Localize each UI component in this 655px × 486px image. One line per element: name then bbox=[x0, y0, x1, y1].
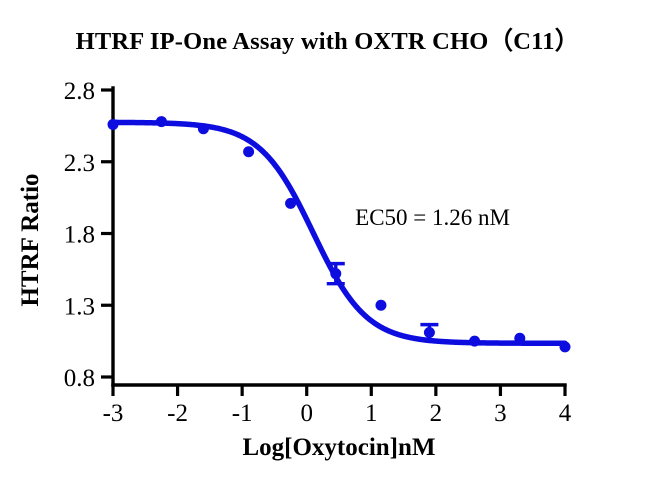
y-tick-label: 1.3 bbox=[64, 293, 95, 320]
data-points bbox=[108, 116, 571, 352]
data-point bbox=[469, 336, 480, 347]
data-point bbox=[375, 300, 386, 311]
x-axis: -3-2-101234 Log[Oxytocin]nM bbox=[103, 385, 572, 461]
chart-figure: HTRF IP-One Assay with OXTR CHO（C11） 0.8… bbox=[0, 0, 655, 486]
data-point bbox=[560, 341, 571, 352]
y-tick-label: 2.8 bbox=[64, 78, 95, 105]
x-axis-title: Log[Oxytocin]nM bbox=[242, 434, 435, 461]
x-tick-label: -1 bbox=[232, 400, 253, 427]
data-point bbox=[424, 327, 435, 338]
y-tick-labels: 0.81.31.82.32.8 bbox=[64, 78, 95, 392]
x-tick-label: 1 bbox=[365, 400, 378, 427]
plot-area: 0.81.31.82.32.8 HTRF Ratio -3-2-101234 L… bbox=[0, 0, 655, 486]
data-point bbox=[285, 198, 296, 209]
data-point bbox=[330, 268, 341, 279]
data-point bbox=[198, 123, 209, 134]
data-point bbox=[156, 116, 167, 127]
data-point bbox=[108, 119, 119, 130]
y-tick-label: 2.3 bbox=[64, 150, 95, 177]
data-point bbox=[243, 146, 254, 157]
chart-annotations: EC50 = 1.26 nM bbox=[355, 205, 510, 230]
x-tick-label: 3 bbox=[494, 400, 507, 427]
y-tick-marks bbox=[101, 90, 113, 377]
x-tick-label: -3 bbox=[103, 400, 124, 427]
y-tick-label: 0.8 bbox=[64, 365, 95, 392]
y-axis-title: HTRF Ratio bbox=[17, 173, 44, 306]
data-point bbox=[514, 333, 525, 344]
x-tick-label: 2 bbox=[430, 400, 443, 427]
y-tick-label: 1.8 bbox=[64, 222, 95, 249]
x-tick-label: 4 bbox=[559, 400, 572, 427]
x-tick-label: -2 bbox=[167, 400, 188, 427]
x-tick-labels: -3-2-101234 bbox=[103, 400, 572, 427]
fit-curve bbox=[113, 122, 565, 343]
ec50-annotation: EC50 = 1.26 nM bbox=[355, 205, 510, 230]
x-tick-label: 0 bbox=[300, 400, 313, 427]
y-axis: 0.81.31.82.32.8 HTRF Ratio bbox=[17, 78, 113, 392]
